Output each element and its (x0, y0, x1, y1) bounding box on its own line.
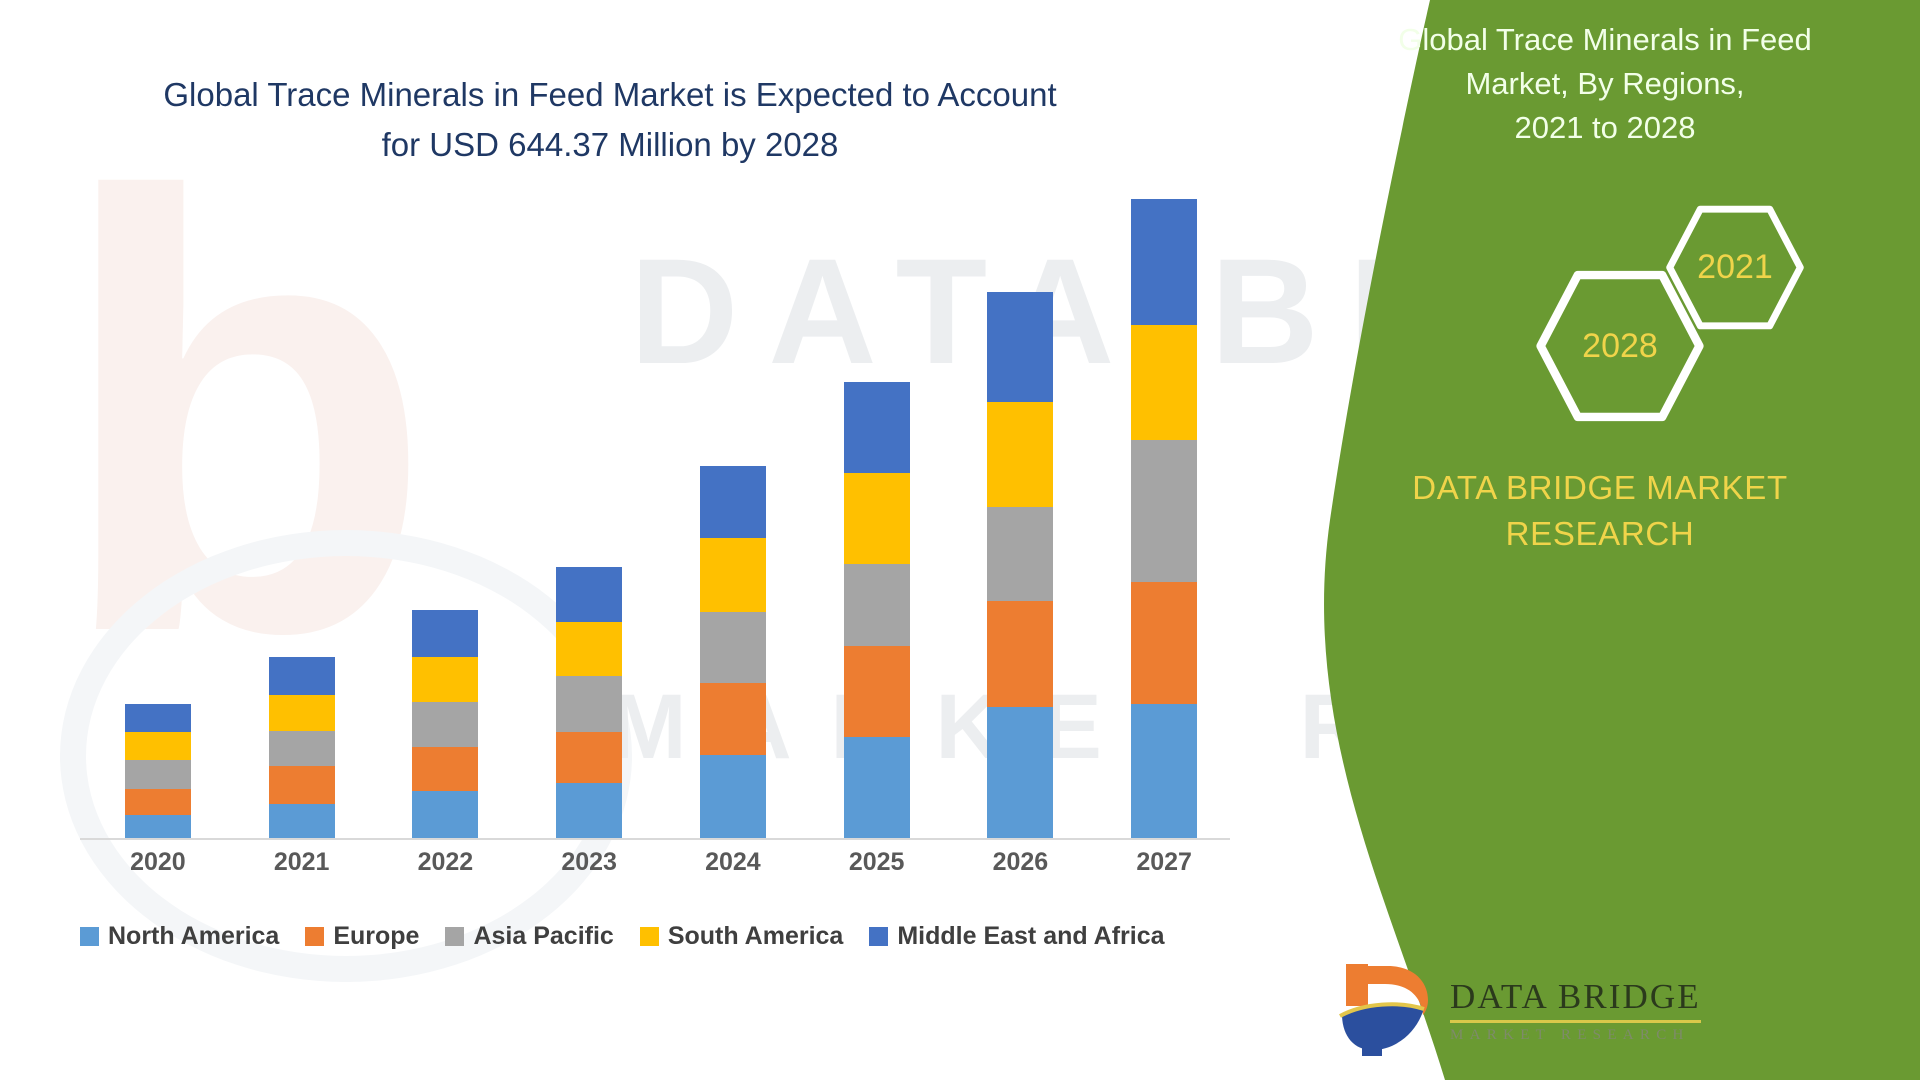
bar-segment[interactable] (269, 695, 335, 731)
chart-panel: Global Trace Minerals in Feed Market is … (0, 0, 1380, 1080)
brand-panel: Global Trace Minerals in Feed Market, By… (1270, 0, 1920, 1080)
legend-swatch-icon (640, 927, 659, 946)
x-axis-labels: 20202021202220232024202520262027 (80, 848, 1230, 888)
bar-segment[interactable] (125, 789, 191, 815)
brand-panel-title-line-3: 2021 to 2028 (1325, 106, 1885, 150)
bar-segment[interactable] (269, 804, 335, 838)
hexagon-year-2028-label: 2028 (1535, 270, 1705, 422)
bar-segment[interactable] (844, 564, 910, 646)
page-title-line-1: Global Trace Minerals in Feed Market is … (70, 70, 1150, 120)
bar-group-2024[interactable] (700, 466, 766, 838)
brand-panel-title: Global Trace Minerals in Feed Market, By… (1325, 18, 1885, 150)
brand-panel-title-line-1: Global Trace Minerals in Feed (1325, 18, 1885, 62)
bar-segment[interactable] (700, 683, 766, 755)
legend-item-middle-east-and-africa[interactable]: Middle East and Africa (869, 922, 1164, 951)
bar-group-2022[interactable] (412, 610, 478, 838)
bar-group-2026[interactable] (987, 292, 1053, 838)
bar-segment[interactable] (412, 747, 478, 792)
legend-label: North America (108, 922, 279, 951)
bar-segment[interactable] (987, 402, 1053, 507)
bar-segment[interactable] (556, 622, 622, 677)
footer-logo-text: DATA BRIDGE MARKET RESEARCH (1450, 977, 1701, 1044)
x-axis-line (80, 838, 1230, 840)
footer-logo-subtitle: MARKET RESEARCH (1450, 1027, 1701, 1044)
x-axis-tick-2024: 2024 (673, 848, 793, 877)
stacked-bar-chart (80, 160, 1230, 840)
bar-segment[interactable] (1131, 582, 1197, 704)
bar-segment[interactable] (987, 601, 1053, 707)
bar-segment[interactable] (556, 732, 622, 783)
bar-segment[interactable] (987, 707, 1053, 838)
bar-segment[interactable] (700, 755, 766, 838)
footer-logo-title: DATA BRIDGE (1450, 977, 1701, 1017)
legend-label: Asia Pacific (473, 922, 613, 951)
bar-segment[interactable] (987, 507, 1053, 602)
brand-name: DATA BRIDGE MARKET RESEARCH (1310, 465, 1890, 557)
x-axis-tick-2020: 2020 (98, 848, 218, 877)
bar-segment[interactable] (125, 815, 191, 838)
bar-segment[interactable] (556, 783, 622, 838)
bar-segment[interactable] (1131, 704, 1197, 838)
x-axis-tick-2021: 2021 (242, 848, 362, 877)
bar-segment[interactable] (700, 466, 766, 538)
bar-segment[interactable] (412, 702, 478, 746)
legend-swatch-icon (305, 927, 324, 946)
brand-name-line-2: RESEARCH (1310, 511, 1890, 557)
bar-group-2021[interactable] (269, 657, 335, 838)
legend-swatch-icon (80, 927, 99, 946)
bar-segment[interactable] (844, 646, 910, 737)
legend-label: South America (668, 922, 844, 951)
bar-segment[interactable] (412, 791, 478, 838)
legend-swatch-icon (445, 927, 464, 946)
bar-group-2023[interactable] (556, 567, 622, 838)
bar-segment[interactable] (125, 732, 191, 760)
legend-item-south-america[interactable]: South America (640, 922, 844, 951)
bar-segment[interactable] (125, 704, 191, 731)
bar-segment[interactable] (844, 737, 910, 838)
brand-name-line-1: DATA BRIDGE MARKET (1310, 465, 1890, 511)
x-axis-tick-2025: 2025 (817, 848, 937, 877)
bar-group-2025[interactable] (844, 382, 910, 838)
x-axis-tick-2026: 2026 (960, 848, 1080, 877)
legend-item-europe[interactable]: Europe (305, 922, 419, 951)
legend-label: Middle East and Africa (897, 922, 1164, 951)
x-axis-tick-2027: 2027 (1104, 848, 1224, 877)
bar-segment[interactable] (844, 382, 910, 473)
footer-logo-divider (1450, 1020, 1701, 1023)
hexagon-year-2028: 2028 (1535, 270, 1705, 422)
x-axis-tick-2023: 2023 (529, 848, 649, 877)
bar-segment[interactable] (412, 610, 478, 657)
brand-panel-title-line-2: Market, By Regions, (1325, 62, 1885, 106)
bar-segment[interactable] (556, 676, 622, 732)
legend-item-asia-pacific[interactable]: Asia Pacific (445, 922, 613, 951)
bar-segment[interactable] (1131, 440, 1197, 582)
bar-group-2027[interactable] (1131, 199, 1197, 838)
bar-segment[interactable] (700, 538, 766, 612)
bar-segment[interactable] (1131, 199, 1197, 325)
bar-segment[interactable] (844, 473, 910, 564)
bar-segment[interactable] (269, 731, 335, 766)
legend-label: Europe (333, 922, 419, 951)
page-title: Global Trace Minerals in Feed Market is … (70, 70, 1150, 170)
bar-group-2020[interactable] (125, 704, 191, 838)
x-axis-tick-2022: 2022 (385, 848, 505, 877)
bar-segment[interactable] (125, 760, 191, 788)
bar-segment[interactable] (987, 292, 1053, 402)
bar-segment[interactable] (269, 657, 335, 695)
legend-item-north-america[interactable]: North America (80, 922, 279, 951)
bar-segment[interactable] (1131, 325, 1197, 439)
databridge-b-logo-icon (1328, 960, 1436, 1060)
bar-segment[interactable] (412, 657, 478, 703)
bar-segment[interactable] (269, 766, 335, 804)
legend-swatch-icon (869, 927, 888, 946)
footer-logo: DATA BRIDGE MARKET RESEARCH (1328, 955, 1888, 1065)
chart-legend: North AmericaEuropeAsia PacificSouth Ame… (80, 922, 1165, 951)
bar-segment[interactable] (556, 567, 622, 622)
bar-segment[interactable] (700, 612, 766, 684)
